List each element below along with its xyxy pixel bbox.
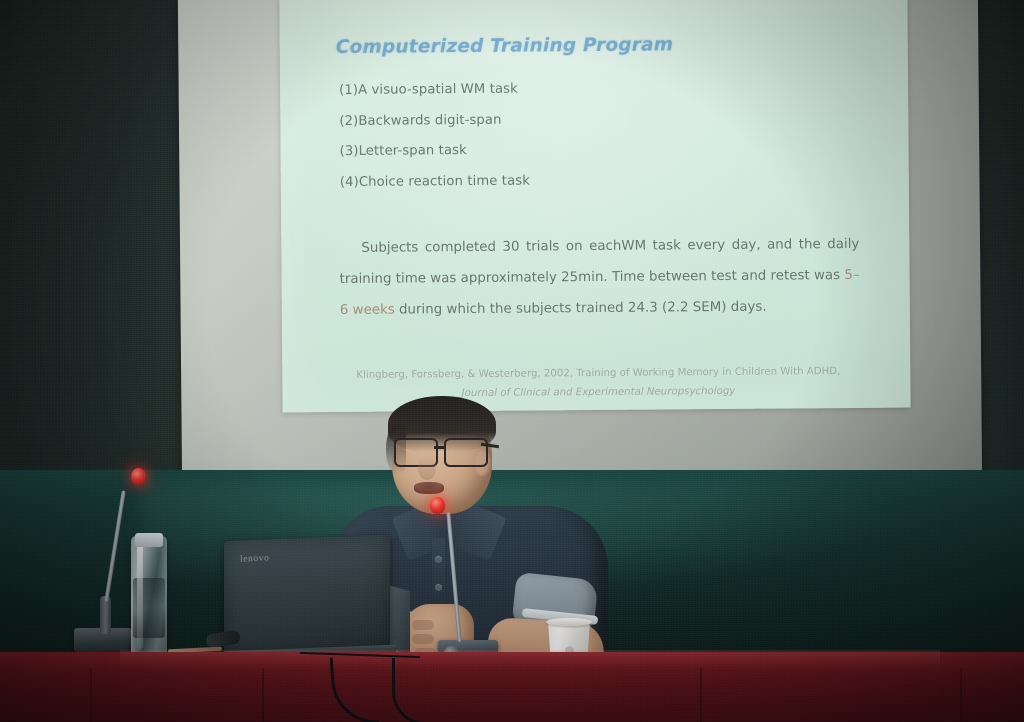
slide-paragraph: Subjects completed 30 trials on eachWM t… bbox=[339, 228, 860, 325]
laptop: lenovo bbox=[224, 538, 390, 653]
glasses-bridge bbox=[434, 446, 446, 449]
table-surface-sheen bbox=[120, 650, 940, 668]
water-bottle-cap bbox=[135, 533, 163, 547]
slide-title: Computerized Training Program bbox=[336, 33, 884, 58]
glasses-icon bbox=[388, 438, 498, 464]
presenter-mouth bbox=[414, 482, 444, 494]
microphone-mount-left bbox=[100, 596, 111, 634]
list-item: (3)Letter-span task bbox=[340, 140, 885, 159]
polo-placket bbox=[432, 538, 445, 608]
microphone-led-tip-left bbox=[131, 468, 146, 485]
table-skirt-fold bbox=[700, 668, 702, 722]
slide-content: Computerized Training Program (1)A visuo… bbox=[279, 0, 910, 412]
paragraph-part-1: Subjects completed 30 trials on eachWM t… bbox=[340, 236, 860, 286]
microphone-led-tip-center bbox=[430, 497, 445, 514]
slide-task-list: (1)A visuo-spatial WM task (2)Backwards … bbox=[339, 79, 885, 190]
paper-cup-rim bbox=[546, 618, 592, 626]
citation-line-1: Klingberg, Forssberg, & Westerberg, 2002… bbox=[356, 366, 840, 381]
presenter-eyebrow-left bbox=[396, 430, 426, 434]
presentation-slide: Computerized Training Program (1)A visuo… bbox=[279, 0, 910, 412]
table-skirt-fold bbox=[262, 668, 264, 722]
list-item: (1)A visuo-spatial WM task bbox=[339, 79, 884, 98]
hand-knuckle bbox=[412, 620, 434, 630]
room-wall-left bbox=[0, 0, 196, 500]
presenter-eyebrow-right bbox=[440, 430, 470, 434]
table-skirt-fold bbox=[90, 668, 92, 722]
table-skirt-fold bbox=[960, 668, 962, 722]
table-skirt bbox=[0, 670, 1024, 722]
laptop-brand-logo: lenovo bbox=[240, 553, 269, 564]
laptop-lid: lenovo bbox=[224, 535, 390, 656]
list-item: (4)Choice reaction time task bbox=[340, 170, 885, 189]
paragraph-part-2: during which the subjects trained 24.3 (… bbox=[395, 299, 767, 317]
presenter-nose bbox=[418, 456, 436, 480]
hand-knuckle bbox=[412, 634, 434, 644]
polo-button bbox=[435, 556, 442, 563]
water-bottle-highlight bbox=[137, 545, 143, 649]
list-item: (2)Backwards digit-span bbox=[339, 109, 884, 128]
polo-button bbox=[435, 584, 442, 591]
photo-scene: Computerized Training Program (1)A visuo… bbox=[0, 0, 1024, 722]
